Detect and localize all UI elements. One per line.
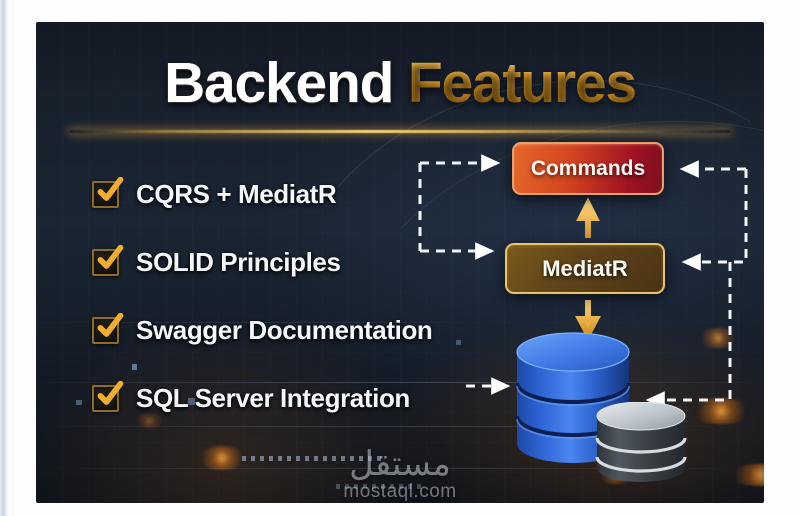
title-divider — [70, 130, 730, 133]
bg-dot-row-1 — [242, 456, 381, 461]
list-item[interactable]: SQL Server Integration — [92, 364, 502, 432]
list-item[interactable]: Swagger Documentation — [92, 296, 502, 364]
feature-label: SQL Server Integration — [136, 383, 410, 414]
check-icon[interactable] — [92, 385, 119, 412]
list-item[interactable]: SOLID Principles — [92, 228, 502, 296]
diagram-node-commands[interactable]: Commands — [512, 142, 664, 195]
check-mark-glyph — [96, 313, 124, 341]
page-left-edge-2 — [9, 0, 14, 516]
title-word-features: Features — [408, 51, 636, 115]
title-word-backend: Backend — [164, 51, 393, 115]
feature-label: Swagger Documentation — [136, 315, 432, 346]
poster-page: Backend Features CQRS + MediatR SO — [0, 0, 800, 516]
check-mark-glyph — [96, 245, 124, 273]
list-item[interactable]: CQRS + MediatR — [92, 160, 502, 228]
bg-dot-row-2 — [336, 484, 421, 489]
feature-list: CQRS + MediatR SOLID Principles Swagger … — [92, 160, 502, 432]
check-icon[interactable] — [92, 181, 119, 208]
bg-glow-2 — [690, 398, 752, 424]
check-icon[interactable] — [92, 249, 119, 276]
bg-spark-2 — [76, 400, 82, 405]
page-left-edge — [0, 0, 9, 516]
node-label: Commands — [531, 157, 645, 181]
feature-label: CQRS + MediatR — [136, 179, 336, 210]
bg-glow-3 — [696, 328, 740, 348]
feature-label: SOLID Principles — [136, 247, 341, 278]
check-mark-glyph — [96, 381, 124, 409]
database-icon-grey — [594, 402, 688, 484]
bg-glow-1 — [196, 446, 248, 470]
check-mark-glyph — [96, 177, 124, 205]
diagram-node-mediatr[interactable]: MediatR — [505, 243, 665, 294]
page-title: Backend Features — [36, 54, 764, 114]
check-icon[interactable] — [92, 317, 119, 344]
node-label: MediatR — [542, 256, 628, 282]
poster-panel: Backend Features CQRS + MediatR SO — [36, 22, 764, 503]
